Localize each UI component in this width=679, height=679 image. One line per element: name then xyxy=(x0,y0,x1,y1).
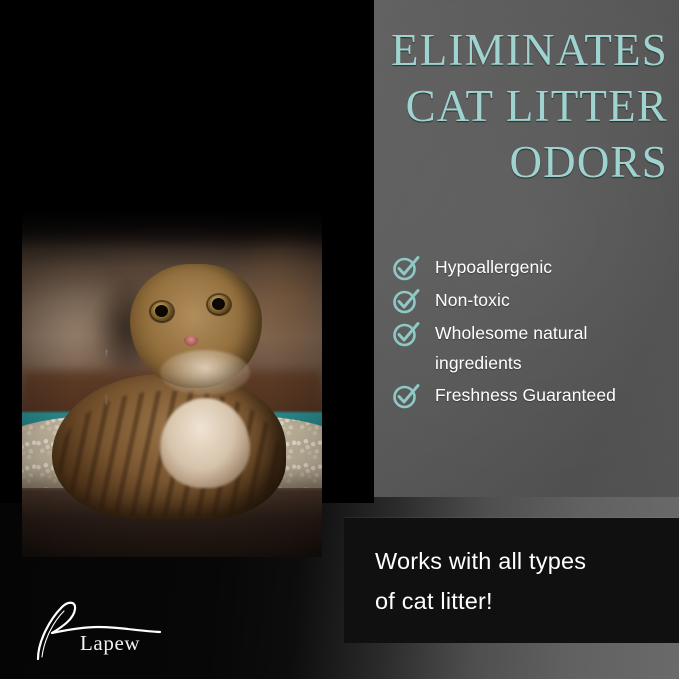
check-circle-icon xyxy=(391,286,421,316)
feature-label: Wholesome natural ingredients xyxy=(435,318,675,378)
product-advertisement: ELIMINATES CAT LITTER ODORS xyxy=(0,0,679,679)
photo-vignette xyxy=(22,212,322,557)
feature-label: Non-toxic xyxy=(435,285,510,315)
feature-item-non-toxic: Non-toxic xyxy=(391,285,675,316)
callout-text: Works with all types of cat litter! xyxy=(375,541,665,621)
brand-wordmark: Lapew xyxy=(80,631,140,656)
brand-logo: Lapew xyxy=(28,597,178,663)
page-title: ELIMINATES CAT LITTER ODORS xyxy=(300,22,668,190)
feature-item-freshness-guaranteed: Freshness Guaranteed xyxy=(391,380,675,411)
feature-label: Hypoallergenic xyxy=(435,252,552,282)
feature-item-hypoallergenic: Hypoallergenic xyxy=(391,252,675,283)
feature-item-wholesome-natural-ingredients: Wholesome natural ingredients xyxy=(391,318,675,378)
feature-list: Hypoallergenic Non-toxic Wholesome natur… xyxy=(391,252,675,413)
check-circle-icon xyxy=(391,319,421,349)
product-photo xyxy=(22,212,322,557)
photo-scene xyxy=(22,212,322,557)
feature-label: Freshness Guaranteed xyxy=(435,380,616,410)
check-circle-icon xyxy=(391,381,421,411)
callout-panel: Works with all types of cat litter! xyxy=(344,518,679,643)
check-circle-icon xyxy=(391,253,421,283)
